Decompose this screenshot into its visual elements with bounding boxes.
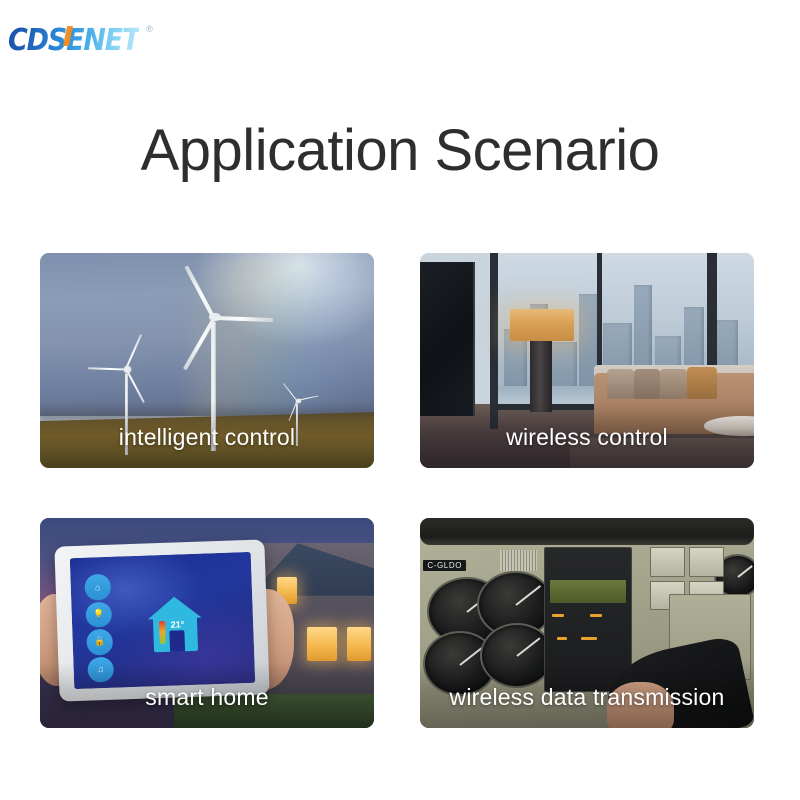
- radio-indicator: [590, 614, 602, 617]
- cushion: [634, 369, 661, 399]
- lamp-shade: [510, 309, 573, 341]
- radio-indicator: [581, 637, 597, 640]
- registered-trademark-symbol: ®: [146, 25, 153, 34]
- cushion: [607, 369, 634, 399]
- radio-indicator: [552, 614, 564, 617]
- temperature-value: 21°: [170, 620, 184, 630]
- card-caption: smart home: [40, 670, 374, 728]
- card-caption: intelligent control: [40, 410, 374, 468]
- scenario-card-smart-home[interactable]: ⌂ 💡 🔒 ♫ 21° smart home: [40, 518, 374, 728]
- radio-display: [550, 580, 626, 603]
- turbine-blade: [125, 334, 143, 370]
- house-thermostat-graphic: 21°: [147, 596, 203, 653]
- turbine-blade: [214, 316, 273, 322]
- page-title: Application Scenario: [0, 116, 800, 186]
- scenario-card-wireless-data-transmission[interactable]: C-GLDO wireles: [420, 518, 754, 728]
- wall-screen: [420, 262, 475, 417]
- card-caption: wireless control: [420, 410, 754, 468]
- scenario-card-intelligent-control[interactable]: intelligent control: [40, 253, 374, 468]
- brand-wordmark: CDSENET: [8, 24, 139, 58]
- cushion: [687, 367, 717, 399]
- toggle-switch: [689, 547, 724, 577]
- brand-logo: CDSENET ®: [8, 24, 153, 54]
- turbine-blade: [125, 368, 145, 403]
- scenario-card-wireless-control[interactable]: wireless control: [420, 253, 754, 468]
- lightbulb-icon: 💡: [85, 602, 111, 628]
- turbine-blade: [283, 383, 298, 401]
- house-graphic-door: [169, 631, 184, 652]
- card-caption: wireless data transmission: [420, 670, 754, 728]
- house-window: [307, 627, 337, 661]
- home-icon: ⌂: [84, 574, 110, 600]
- turbine-blade: [88, 366, 126, 370]
- speaker-grille: [500, 550, 537, 571]
- scenario-card-grid: intelligent control: [40, 253, 754, 728]
- cushion: [660, 369, 687, 399]
- house-window: [347, 627, 370, 661]
- glareshield: [420, 518, 754, 545]
- radio-indicator: [557, 637, 567, 640]
- lock-icon: 🔒: [86, 629, 112, 655]
- toggle-switch: [650, 547, 685, 577]
- aircraft-registration-placard: C-GLDO: [423, 560, 466, 571]
- thermometer-bar-icon: [158, 621, 165, 644]
